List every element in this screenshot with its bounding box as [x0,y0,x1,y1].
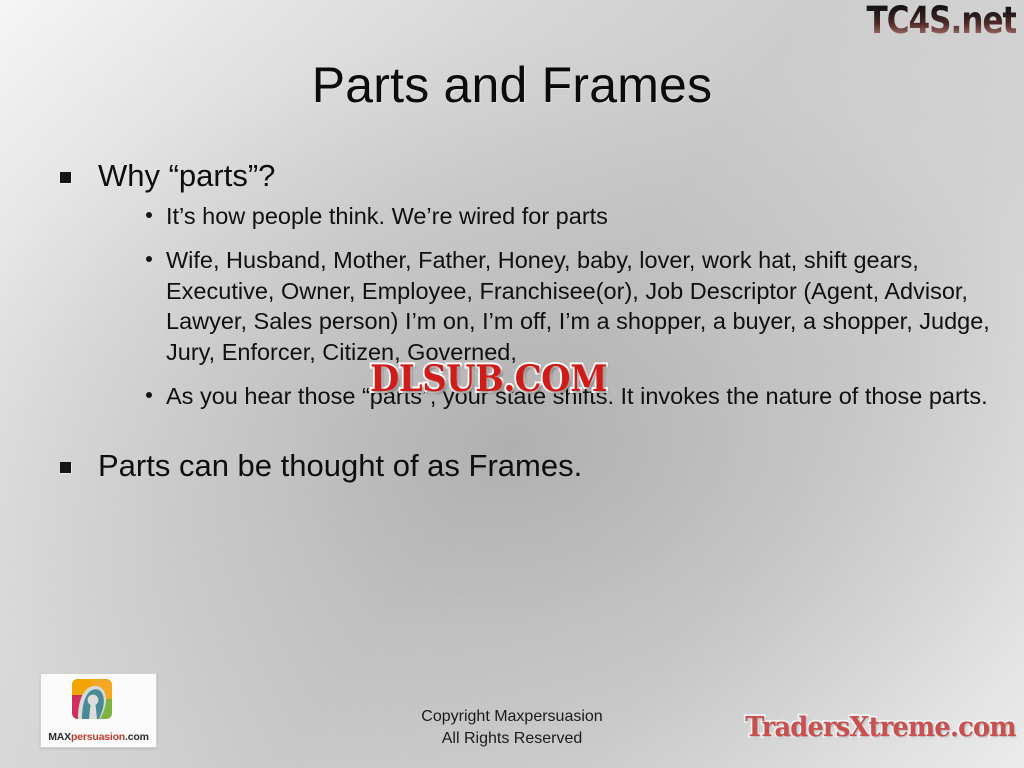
maxpersuasion-word-max: MAX [48,731,71,743]
maxpersuasion-word-com: .com [125,731,149,743]
body-spacer [44,426,994,448]
square-bullet-icon [60,172,71,183]
bullet-level2-text: Wife, Husband, Mother, Father, Honey, ba… [166,247,990,365]
tc4s-logo: TC4S.net [866,2,1016,39]
bullet-level1-text: Why “parts”? [98,158,275,193]
maxpersuasion-word-persuasion: persuasion [71,731,125,743]
maxpersuasion-logo: MAXpersuasion.com [40,673,157,748]
dot-bullet-icon [146,392,152,398]
bullet-level2-text: As you hear those “parts”, your state sh… [166,383,988,409]
bullet-level1-why-parts: Why “parts”? [44,158,994,195]
slide-title: Parts and Frames [0,58,1024,113]
tradersxtreme-logo: TradersXtreme.com [746,714,1016,741]
dot-bullet-icon [146,212,152,218]
maxpersuasion-head-keyhole-icon [69,678,115,722]
bullet-level1-text: Parts can be thought of as Frames. [98,448,582,483]
bullet-level2-item-3: As you hear those “parts”, your state sh… [98,381,994,412]
slide-body: Why “parts”? It’s how people think. We’r… [44,158,994,490]
maxpersuasion-wordmark: MAXpersuasion.com [41,732,156,743]
bullet-level1-parts-frames: Parts can be thought of as Frames. [44,448,994,485]
bullet-level2-item-1: It’s how people think. We’re wired for p… [98,201,994,232]
square-bullet-icon [60,462,71,473]
bullet-level2-item-2: Wife, Husband, Mother, Father, Honey, ba… [98,245,994,367]
slide-canvas: TC4S.net Parts and Frames Why “parts”? I… [0,0,1024,768]
bullet-level2-group: It’s how people think. We’re wired for p… [44,201,994,412]
dot-bullet-icon [146,256,152,262]
bullet-level2-text: It’s how people think. We’re wired for p… [166,203,608,229]
